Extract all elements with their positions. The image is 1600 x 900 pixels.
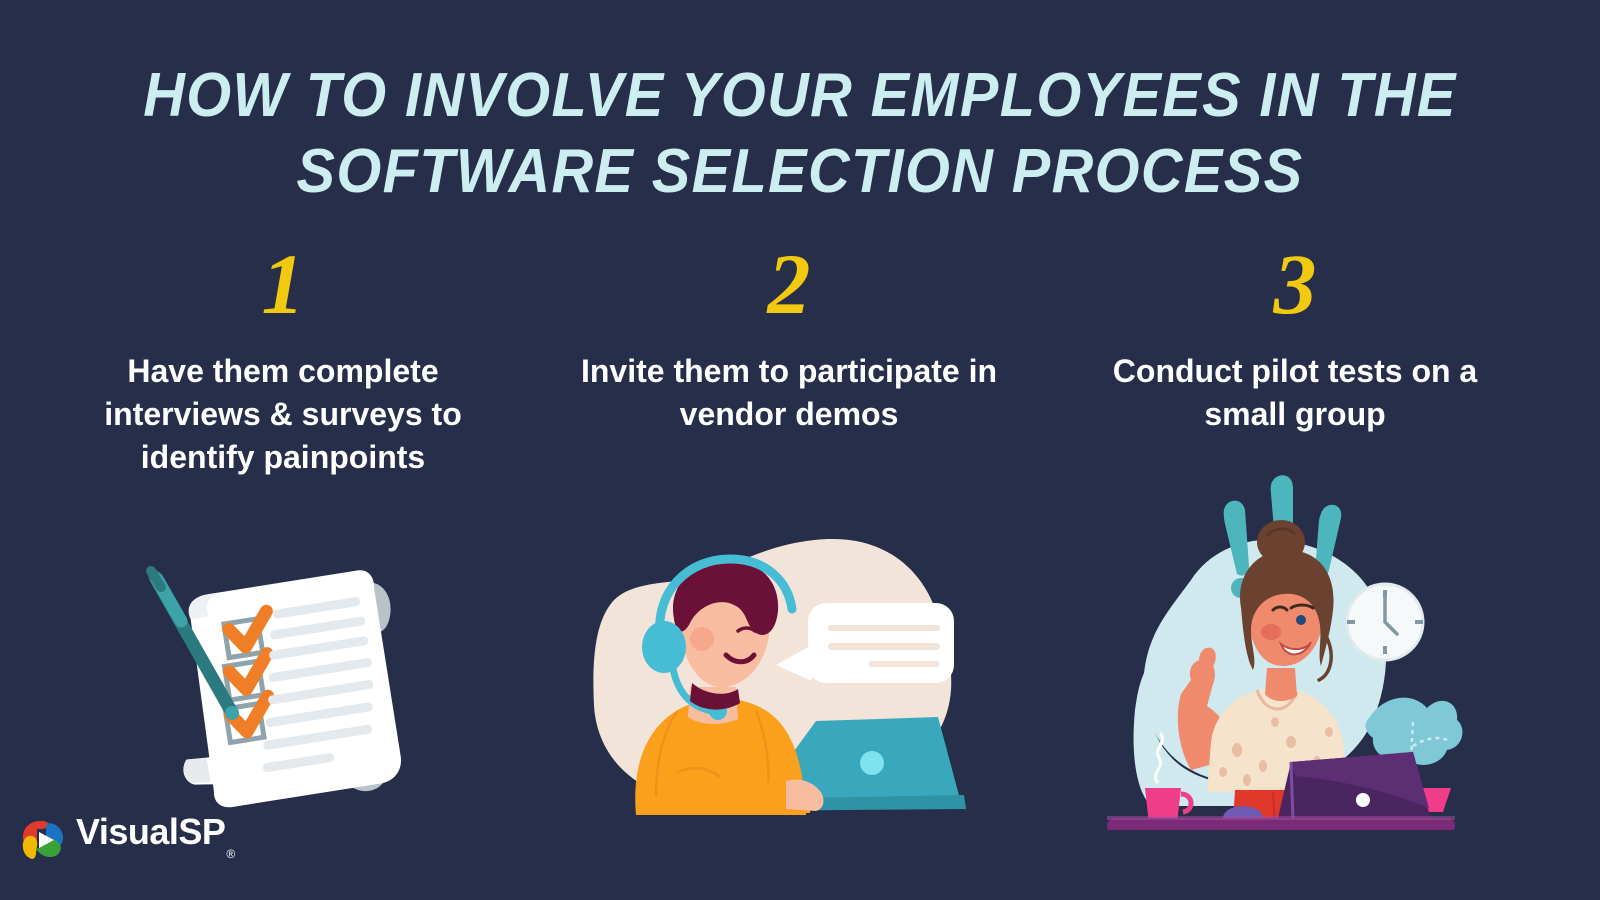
page-title: How to involve your employees in the sof… — [0, 58, 1600, 210]
steps-row: 1 Have them complete interviews & survey… — [0, 238, 1600, 498]
clock-icon — [1347, 584, 1423, 660]
visualsp-logo[interactable]: VisualSP® — [20, 812, 234, 868]
title-line-1: How to involve your employees in the — [56, 58, 1544, 134]
step-column-1: 1 Have them complete interviews & survey… — [30, 238, 536, 498]
step-text-3: Conduct pilot tests on a small group — [1042, 350, 1548, 436]
visualsp-pinwheel-icon — [20, 817, 66, 863]
infographic-canvas: How to involve your employees in the sof… — [0, 0, 1600, 900]
step-number-1: 1 — [30, 238, 536, 330]
registered-mark: ® — [226, 847, 234, 861]
step-column-2: 2 Invite them to participate in vendor d… — [536, 238, 1042, 498]
step-column-3: 3 Conduct pilot tests on a small group — [1042, 238, 1548, 498]
checklist-illustration — [135, 505, 435, 825]
step-number-2: 2 — [536, 238, 1042, 330]
step-text-2: Invite them to participate in vendor dem… — [536, 350, 1042, 436]
visualsp-wordmark: VisualSP® — [76, 812, 234, 868]
step-text-1: Have them complete interviews & surveys … — [30, 350, 536, 479]
logo-name-text: VisualSP — [76, 811, 225, 852]
title-line-2: software selection process — [56, 134, 1544, 210]
pilot-test-illustration — [1095, 470, 1465, 830]
support-agent-illustration — [580, 515, 980, 815]
step-number-3: 3 — [1042, 238, 1548, 330]
